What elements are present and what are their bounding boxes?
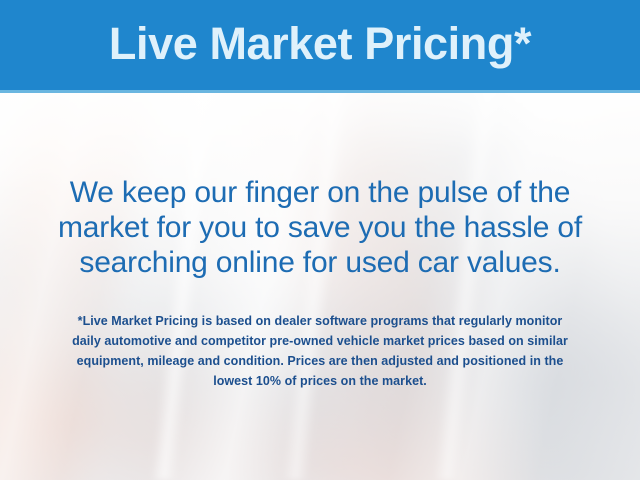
header-banner: Live Market Pricing* xyxy=(0,0,640,93)
live-market-pricing-promo-card: Live Market Pricing* We keep our finger … xyxy=(0,0,640,480)
disclaimer-line-1: *Live Market Pricing is based on dealer … xyxy=(30,311,610,331)
disclaimer-line-2: daily automotive and competitor pre-owne… xyxy=(30,331,610,351)
disclaimer-line-3: equipment, mileage and condition. Prices… xyxy=(30,351,610,371)
headline-line-3: searching online for used car values. xyxy=(24,245,616,280)
promo-content: We keep our finger on the pulse of the m… xyxy=(0,93,640,480)
disclaimer-text: *Live Market Pricing is based on dealer … xyxy=(30,311,610,391)
headline-message: We keep our finger on the pulse of the m… xyxy=(24,175,616,280)
headline-line-1: We keep our finger on the pulse of the xyxy=(24,175,616,210)
disclaimer-line-4: lowest 10% of prices on the market. xyxy=(30,371,610,391)
headline-line-2: market for you to save you the hassle of xyxy=(24,210,616,245)
page-title: Live Market Pricing* xyxy=(109,21,531,70)
